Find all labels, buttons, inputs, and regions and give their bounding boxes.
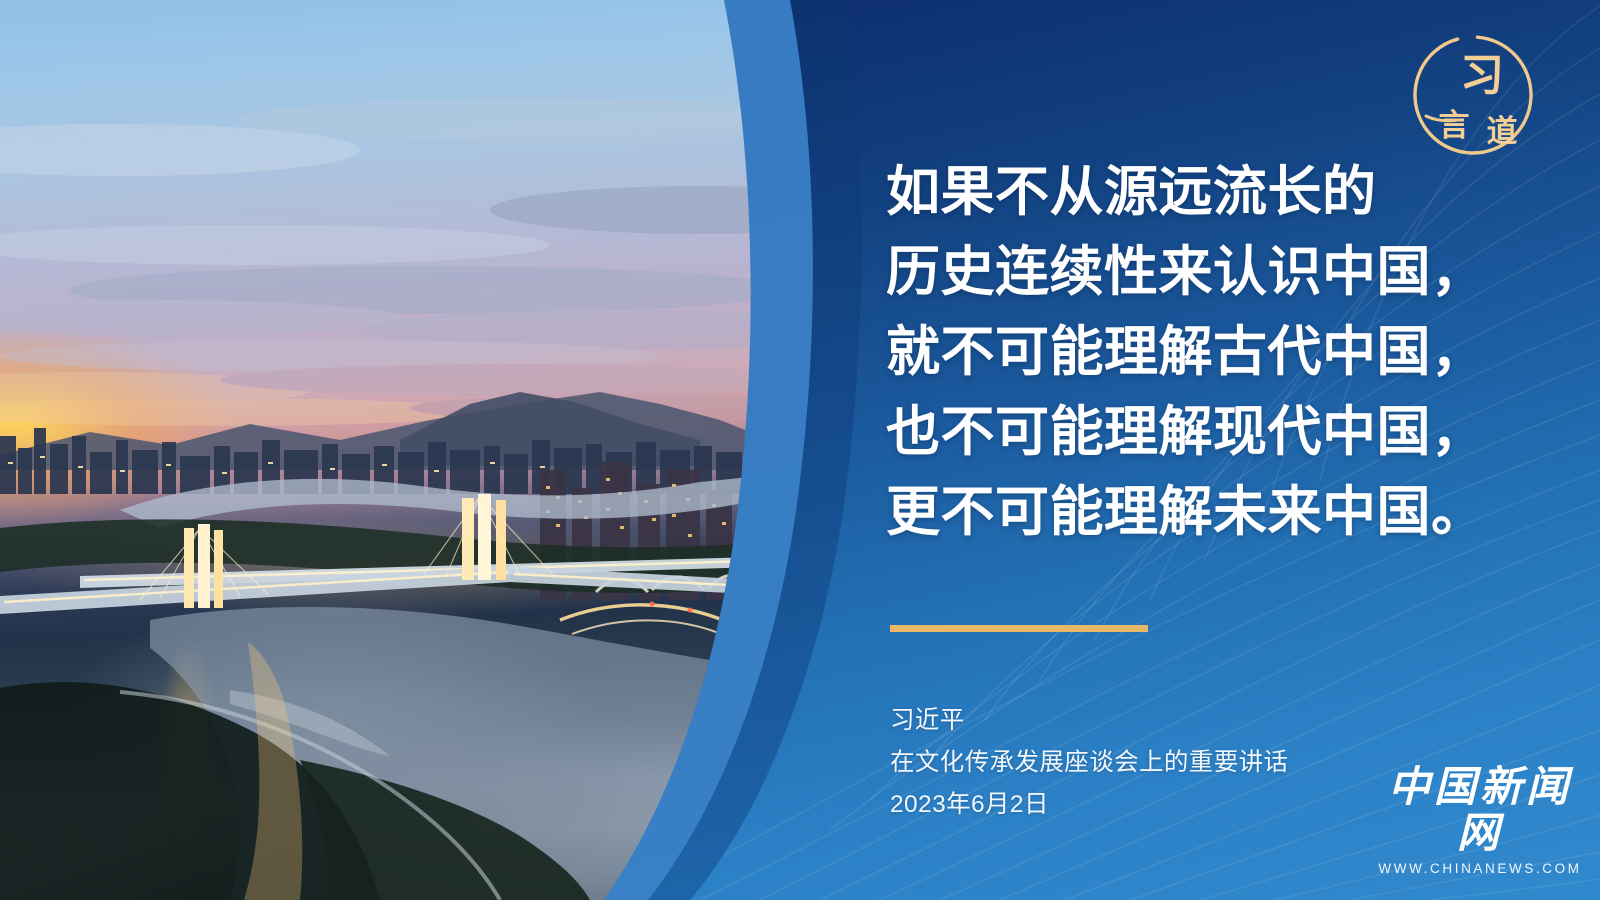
quote-block: 如果不从源远流长的 历史连续性来认识中国， 就不可能理解古代中国， 也不可能理解… <box>886 152 1546 552</box>
publisher-name: 中国新闻网 <box>1374 765 1586 857</box>
attribution-block: 习近平 在文化传承发展座谈会上的重要讲话 2023年6月2日 <box>890 700 1288 826</box>
attribution-date: 2023年6月2日 <box>890 784 1288 826</box>
quote-line-3: 就不可能理解古代中国， <box>886 312 1546 392</box>
publisher-logo: 中国新闻网 WWW.CHINANEWS.COM <box>1374 765 1586 876</box>
gold-divider <box>890 625 1148 632</box>
publisher-url: WWW.CHINANEWS.COM <box>1374 861 1586 876</box>
seal-char-xi: 习 <box>1460 51 1504 100</box>
quote-line-2: 历史连续性来认识中国， <box>886 232 1546 312</box>
seal-char-yan: 言 <box>1439 108 1470 143</box>
seal-char-dao: 道 <box>1487 114 1518 149</box>
seal-circle-icon: 习 言 道 <box>1406 28 1540 162</box>
quote-line-5: 更不可能理解未来中国。 <box>886 472 1546 552</box>
attribution-speaker: 习近平 <box>890 700 1288 742</box>
attribution-occasion: 在文化传承发展座谈会上的重要讲话 <box>890 742 1288 784</box>
quote-line-1: 如果不从源远流长的 <box>886 152 1546 232</box>
quote-line-4: 也不可能理解现代中国， <box>886 392 1546 472</box>
quote-poster: 习 言 道 如果不从源远流长的 历史连续性来认识中国， 就不可能理解古代中国， … <box>0 0 1600 900</box>
